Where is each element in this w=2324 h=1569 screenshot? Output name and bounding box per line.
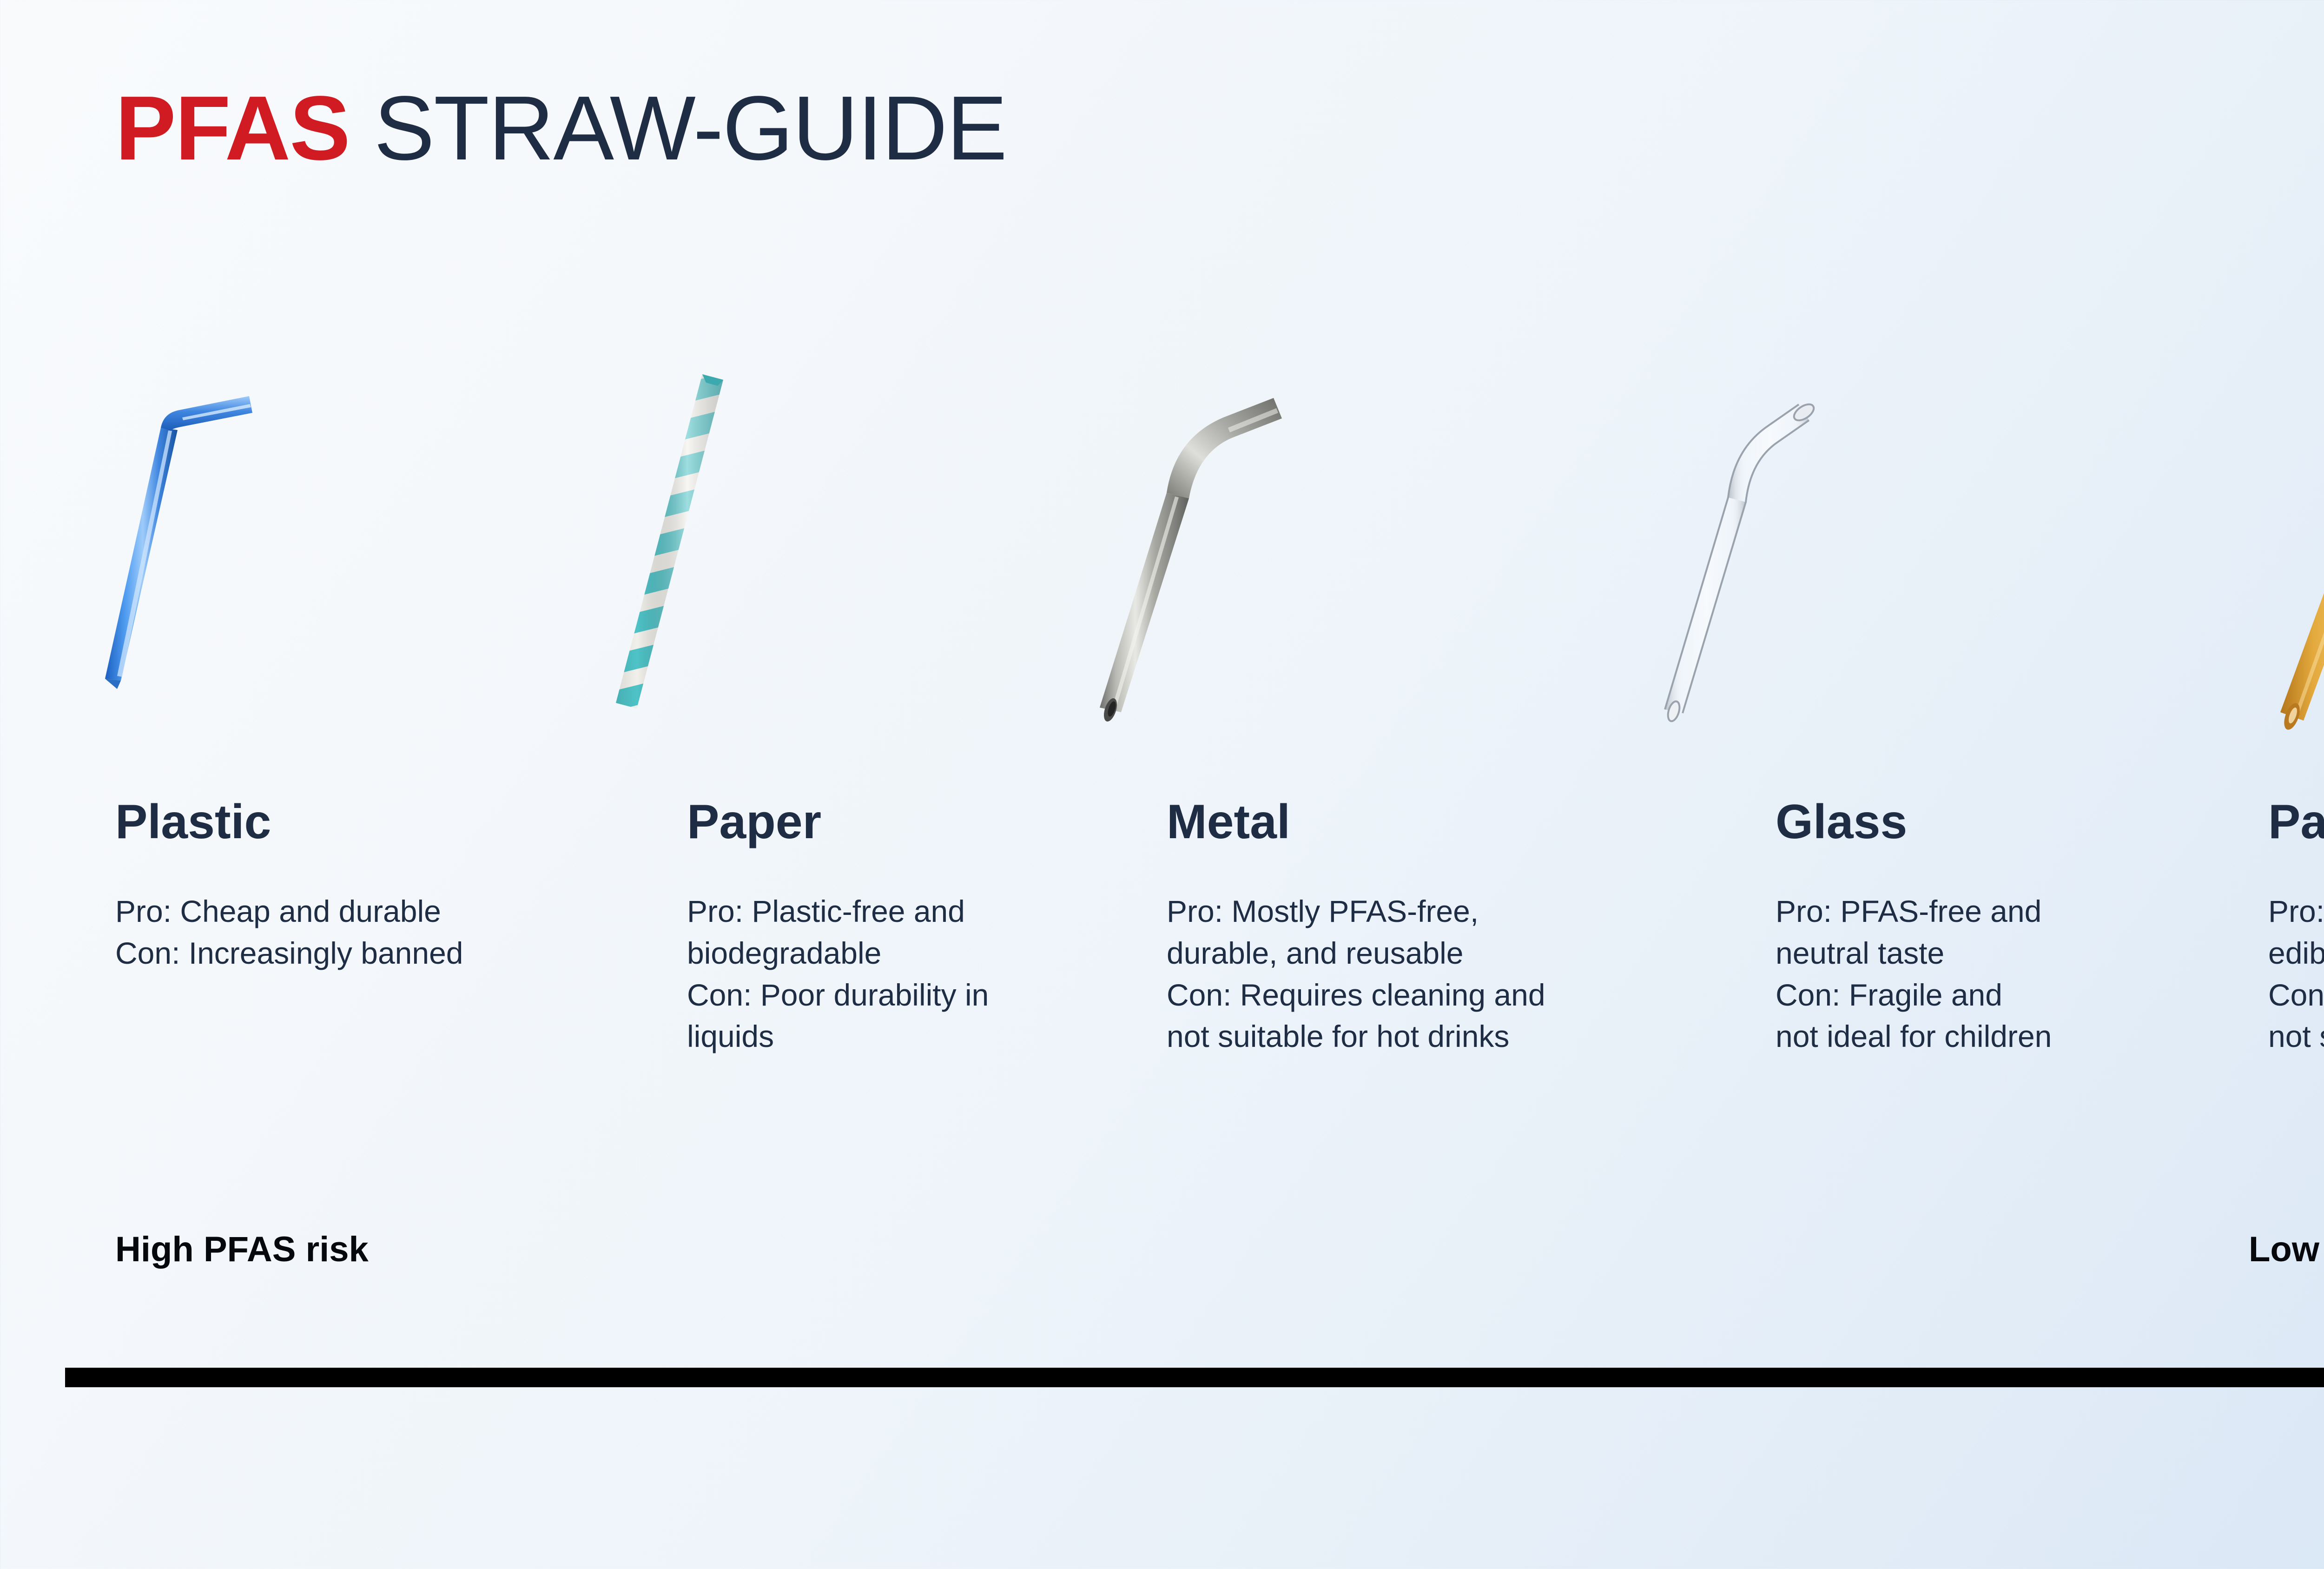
column-line: Pro: Plastic-free and bbox=[687, 891, 1208, 933]
column-line: Pro: PFAS-free and bbox=[1776, 891, 2296, 933]
column-line: Pro: Mostly PFAS-free, bbox=[1167, 891, 1715, 933]
risk-arrow-icon bbox=[65, 1339, 2324, 1423]
plastic-straw-icon bbox=[46, 358, 525, 735]
glass-straw-cell bbox=[1580, 358, 2059, 735]
scale-label-low-risk: Low PFAS risk bbox=[2249, 1232, 2324, 1267]
column-line: Pro: Naturally PFAS-free, bbox=[2268, 891, 2324, 933]
page-title-accent: PFAS bbox=[115, 77, 350, 179]
column-metal: Metal Pro: Mostly PFAS-free, durable, an… bbox=[1167, 798, 1715, 1058]
paper-straw-cell bbox=[521, 358, 999, 735]
column-line: biodegradable bbox=[687, 933, 1208, 974]
column-body-plastic: Pro: Cheap and durable Con: Increasingly… bbox=[115, 891, 636, 974]
page-title-rest: STRAW-GUIDE bbox=[350, 77, 1006, 179]
glass-straw-icon bbox=[1580, 358, 2059, 735]
column-line: not suitable for hot drinks bbox=[2268, 1016, 2324, 1058]
plastic-straw-cell bbox=[46, 358, 525, 735]
column-line: edible and compostable bbox=[2268, 933, 2324, 974]
scale-label-high-risk: High PFAS risk bbox=[115, 1232, 369, 1267]
column-heading-paper: Paper bbox=[687, 798, 1208, 846]
pasta-straw-cell bbox=[2185, 358, 2324, 735]
column-pasta: Pasta Pro: Naturally PFAS-free, edible a… bbox=[2268, 798, 2324, 1058]
column-line: Con: Fragile and bbox=[1776, 974, 2296, 1016]
column-line: neutral taste bbox=[1776, 933, 2296, 974]
column-line: durable, and reusable bbox=[1167, 933, 1715, 974]
column-line: Pro: Cheap and durable bbox=[115, 891, 636, 933]
column-body-metal: Pro: Mostly PFAS-free, durable, and reus… bbox=[1167, 891, 1715, 1058]
column-glass: Glass Pro: PFAS-free and neutral taste C… bbox=[1776, 798, 2296, 1058]
column-line: Con: Requires cleaning and bbox=[1167, 974, 1715, 1016]
column-line: Con: Limited durability and bbox=[2268, 974, 2324, 1016]
column-heading-glass: Glass bbox=[1776, 798, 2296, 846]
page-title: PFAS STRAW-GUIDE bbox=[115, 83, 1006, 174]
paper-straw-icon bbox=[521, 358, 999, 735]
column-line: Con: Increasingly banned bbox=[115, 933, 636, 974]
metal-straw-cell bbox=[1013, 358, 1492, 735]
column-body-pasta: Pro: Naturally PFAS-free, edible and com… bbox=[2268, 891, 2324, 1058]
metal-straw-icon bbox=[1013, 358, 1492, 735]
column-body-paper: Pro: Plastic-free and biodegradable Con:… bbox=[687, 891, 1208, 1058]
column-body-glass: Pro: PFAS-free and neutral taste Con: Fr… bbox=[1776, 891, 2296, 1058]
column-line: Con: Poor durability in bbox=[687, 974, 1208, 1016]
column-heading-plastic: Plastic bbox=[115, 798, 636, 846]
column-line: not suitable for hot drinks bbox=[1167, 1016, 1715, 1058]
column-heading-pasta: Pasta bbox=[2268, 798, 2324, 846]
column-paper: Paper Pro: Plastic-free and biodegradabl… bbox=[687, 798, 1208, 1058]
pasta-straw-icon bbox=[2185, 358, 2324, 735]
straw-illustration-row bbox=[0, 358, 2324, 735]
column-plastic: Plastic Pro: Cheap and durable Con: Incr… bbox=[115, 798, 636, 974]
column-line: not ideal for children bbox=[1776, 1016, 2296, 1058]
column-line: liquids bbox=[687, 1016, 1208, 1058]
column-heading-metal: Metal bbox=[1167, 798, 1715, 846]
